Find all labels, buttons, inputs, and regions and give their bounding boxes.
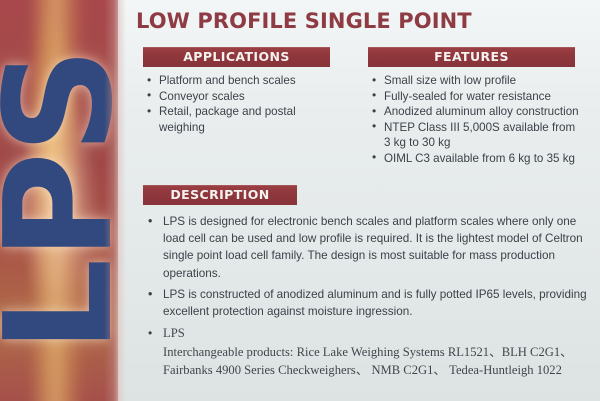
features-list: Small size with low profileFully-sealed … bbox=[371, 73, 586, 167]
section-header-features: FEATURES bbox=[368, 47, 575, 67]
section-header-features-label: FEATURES bbox=[368, 47, 575, 67]
section-header-description-label: DESCRIPTION bbox=[143, 185, 297, 205]
section-header-applications-label: APPLICATIONS bbox=[143, 47, 330, 67]
feature-item: NTEP Class III 5,000S available from bbox=[371, 120, 586, 136]
application-item: Retail, package and postal bbox=[146, 104, 346, 120]
description-item: LPS is constructed of anodized aluminum … bbox=[146, 286, 594, 320]
applications-list: Platform and bench scalesConveyor scales… bbox=[146, 73, 346, 135]
application-item: weighing bbox=[146, 120, 346, 136]
content-area: LOW PROFILE SINGLE POINT APPLICATIONS Pl… bbox=[126, 0, 600, 401]
application-item: Platform and bench scales bbox=[146, 73, 346, 89]
feature-item: Small size with low profile bbox=[371, 73, 586, 89]
brand-sidebar: LPS bbox=[0, 0, 118, 401]
datasheet-page: LPS LOW PROFILE SINGLE POINT APPLICATION… bbox=[0, 0, 600, 401]
feature-item: OIML C3 available from 6 kg to 35 kg bbox=[371, 151, 586, 167]
sidebar-product-label: LPS bbox=[0, 49, 118, 352]
application-item: Conveyor scales bbox=[146, 89, 346, 105]
description-list: LPS is designed for electronic bench sca… bbox=[146, 213, 594, 380]
feature-item: 3 kg to 30 kg bbox=[371, 135, 586, 151]
section-header-applications: APPLICATIONS bbox=[143, 47, 330, 67]
feature-item: Fully-sealed for water resistance bbox=[371, 89, 586, 105]
description-item-subtext: Interchangeable products: Rice Lake Weig… bbox=[163, 343, 594, 380]
description-item: LPSInterchangeable products: Rice Lake W… bbox=[146, 324, 594, 380]
description-item: LPS is designed for electronic bench sca… bbox=[146, 213, 594, 282]
page-title: LOW PROFILE SINGLE POINT bbox=[136, 9, 472, 33]
section-header-description: DESCRIPTION bbox=[143, 185, 297, 205]
feature-item: Anodized aluminum alloy construction bbox=[371, 104, 586, 120]
